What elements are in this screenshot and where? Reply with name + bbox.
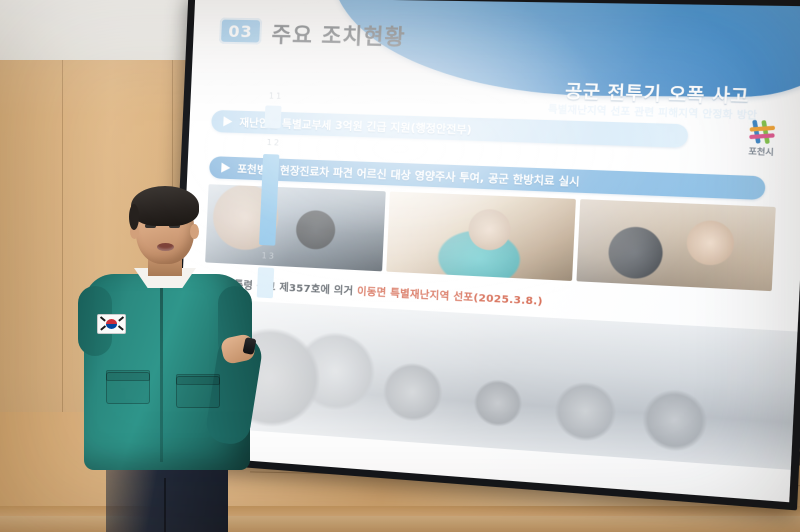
page-number-12[interactable]: 12 [267, 138, 282, 148]
photo-clinic-interior [576, 199, 775, 291]
triangle-marker-icon [223, 116, 232, 126]
projection-screen: 공군 전투기 오폭 사고 특별재난지역 선포 관련 피해지역 안정화 방안 03… [167, 0, 800, 510]
crowd-gathering-photo [176, 297, 798, 470]
page-chip-11[interactable] [264, 105, 281, 128]
trouser-seam [164, 478, 166, 532]
ear-right [190, 224, 199, 239]
presentation-slide: 공군 전투기 오폭 사고 특별재난지역 선포 관련 피해지역 안정화 방안 03… [175, 0, 800, 502]
section-number: 03 [228, 21, 253, 41]
triangle-marker-icon [221, 163, 230, 173]
presenter-hair [131, 186, 199, 226]
section-number-badge: 03 [219, 18, 262, 45]
page-number-11[interactable]: 11 [269, 91, 284, 101]
pinwheel-hash-icon [749, 120, 775, 145]
page-number-13[interactable]: 13 [261, 251, 276, 261]
presenter [72, 186, 258, 532]
jacket-pocket-right [176, 376, 220, 408]
jacket-zipper [160, 282, 163, 462]
korean-flag-patch [97, 314, 126, 334]
page-chip-13[interactable] [257, 267, 275, 298]
section-title: 주요 조치현황 [271, 18, 406, 51]
city-logo: 포천시 [748, 120, 775, 159]
mouth [157, 243, 174, 251]
jacket-pocket-left [106, 372, 150, 404]
screenshot-root: 공군 전투기 오폭 사고 특별재난지역 선포 관련 피해지역 안정화 방안 03… [0, 0, 800, 532]
photo-elderly-treatment [386, 191, 576, 281]
screen-frame: 공군 전투기 오폭 사고 특별재난지역 선포 관련 피해지역 안정화 방안 03… [167, 0, 800, 510]
page-chip-12[interactable] [259, 154, 279, 246]
city-logo-label: 포천시 [748, 146, 774, 159]
note-highlight: 이동면 특별재난지역 선포(2025.3.8.) [357, 287, 543, 308]
